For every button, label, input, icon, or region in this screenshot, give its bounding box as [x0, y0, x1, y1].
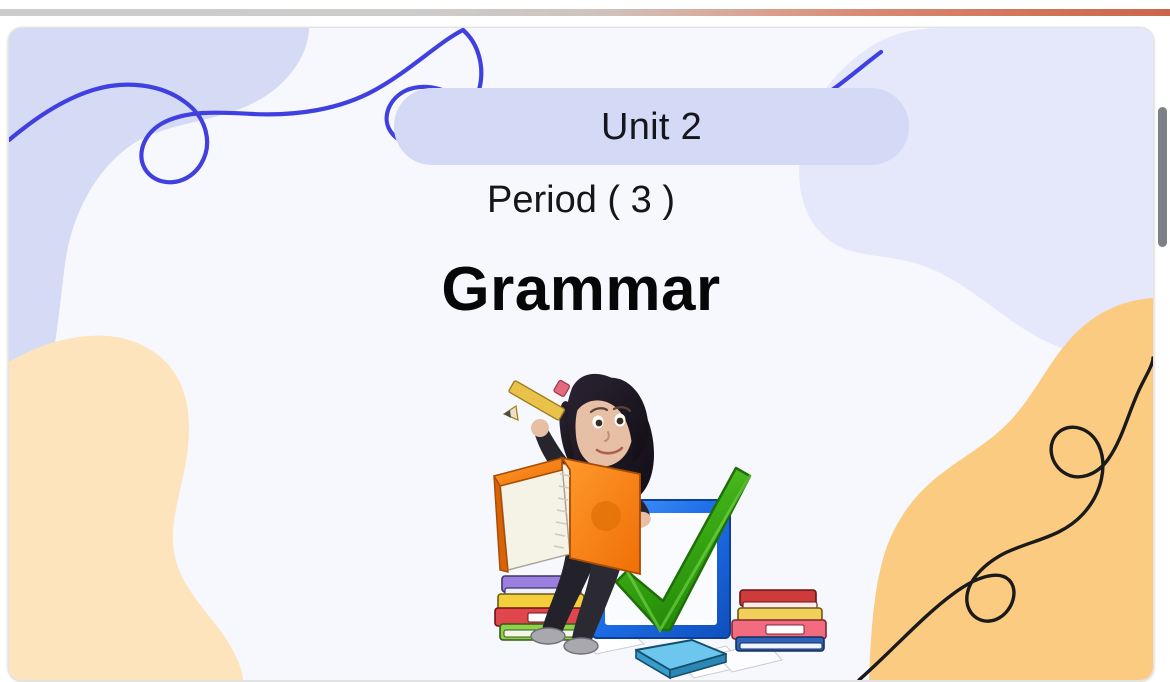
top-left-blob-extension: [9, 28, 309, 446]
page-title: Grammar: [9, 256, 1153, 324]
student-with-checkmark-illustration: [464, 358, 854, 681]
vertical-scrollbar-thumb[interactable]: [1158, 107, 1167, 247]
top-left-blob: [9, 28, 245, 420]
slide-card: Unit 2 Period ( 3 ) Grammar: [8, 27, 1154, 681]
bottom-right-blob: [869, 298, 1153, 680]
slide-viewer-window: Unit 2 Period ( 3 ) Grammar: [0, 0, 1170, 682]
unit-badge: Unit 2: [394, 88, 909, 165]
vertical-scrollbar-track[interactable]: [1156, 27, 1170, 682]
dark-squiggle: [859, 358, 1153, 680]
bottom-left-blob: [9, 336, 243, 680]
unit-badge-label: Unit 2: [601, 108, 702, 146]
page-load-progress-track: [0, 9, 1170, 16]
page-load-progress-fill: [0, 9, 1170, 16]
period-label: Period ( 3 ): [9, 180, 1153, 222]
right-book-stack: [732, 590, 826, 651]
pencil: [504, 380, 570, 421]
